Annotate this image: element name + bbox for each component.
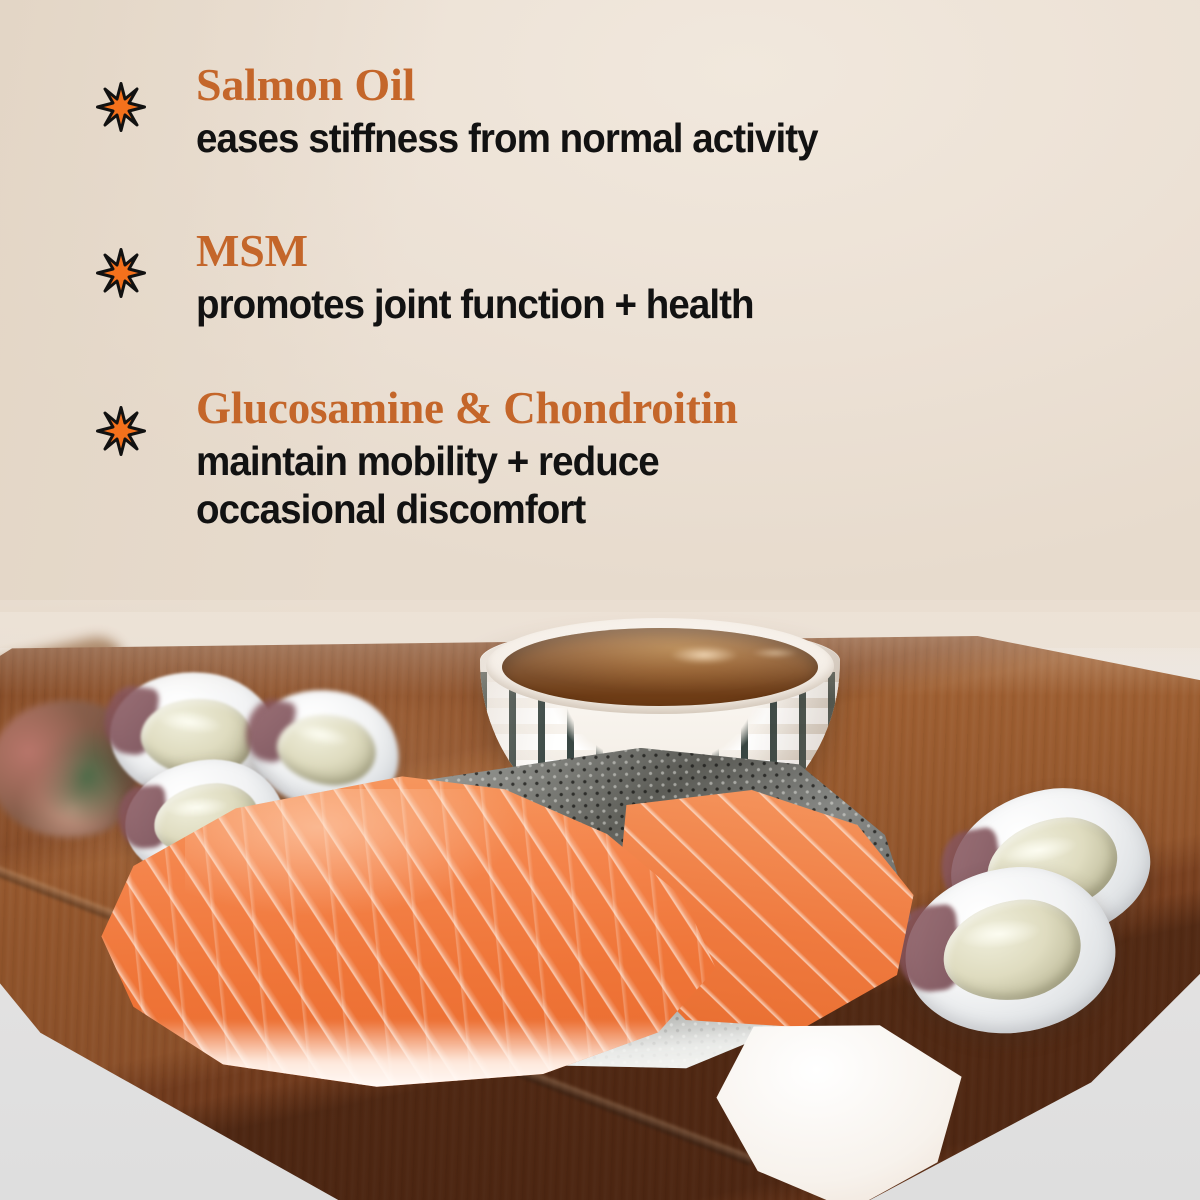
eight-point-star-icon (96, 82, 146, 132)
benefit-bullet-icon-wrap (96, 386, 158, 456)
eight-point-star-icon (96, 248, 146, 298)
benefits-list: Salmon Oil eases stiffness from normal a… (0, 0, 1200, 600)
product-benefits-card: Salmon Oil eases stiffness from normal a… (0, 0, 1200, 1200)
broth-highlight (670, 646, 738, 664)
oyster-right-front (897, 857, 1123, 1043)
benefit-text: MSM promotes joint function + health (158, 228, 789, 328)
benefit-item-salmon-oil: Salmon Oil eases stiffness from normal a… (96, 62, 857, 162)
benefit-text: Salmon Oil eases stiffness from normal a… (158, 62, 857, 162)
benefit-description: promotes joint function + health (196, 280, 754, 328)
benefit-bullet-icon-wrap (96, 228, 158, 298)
benefit-description: eases stiffness from normal activity (196, 114, 818, 162)
benefit-heading: Salmon Oil (196, 62, 857, 108)
benefit-bullet-icon-wrap (96, 62, 158, 132)
broth-liquid (502, 628, 818, 706)
benefit-item-msm: MSM promotes joint function + health (96, 228, 789, 328)
benefit-heading: MSM (196, 228, 789, 274)
broth-highlight-secondary (752, 648, 798, 658)
benefit-item-glucosamine-chondroitin: Glucosamine & Chondroitin maintain mobil… (96, 386, 738, 534)
eight-point-star-icon (96, 406, 146, 456)
benefit-description: maintain mobility + reduce occasional di… (196, 437, 705, 534)
benefit-text: Glucosamine & Chondroitin maintain mobil… (158, 386, 738, 534)
benefit-heading: Glucosamine & Chondroitin (196, 386, 738, 431)
